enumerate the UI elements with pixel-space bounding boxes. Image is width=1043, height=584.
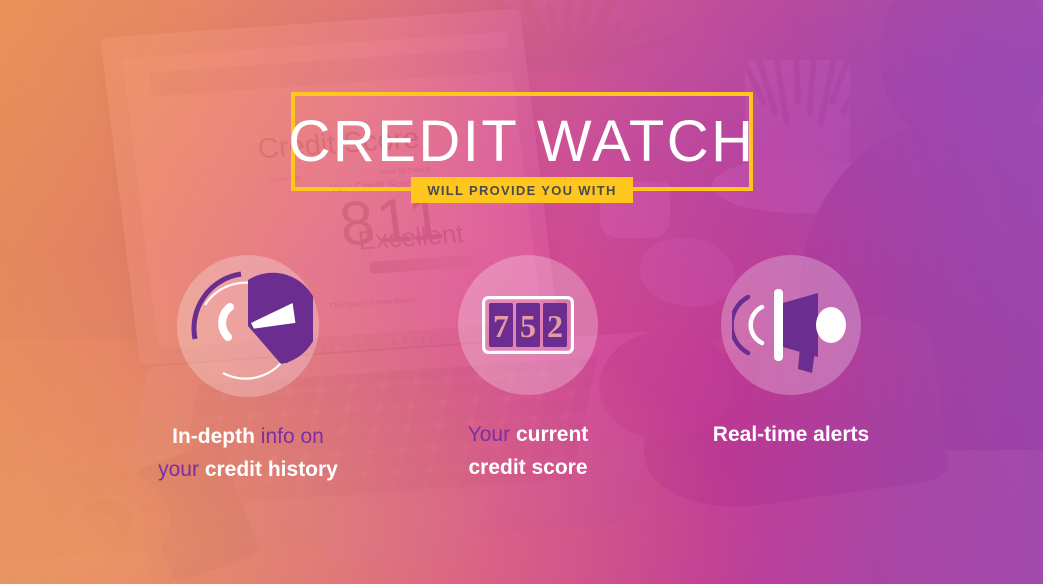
caption-light-1: info on (261, 425, 324, 448)
feature-caption: Real-time alerts (671, 419, 911, 452)
digit-0: 7 (493, 308, 509, 344)
caption-bold-1: current (516, 423, 588, 446)
caption-bold-2: credit score (468, 456, 587, 479)
subtitle-banner: WILL PROVIDE YOU WITH (411, 177, 633, 203)
feature-current-score[interactable]: 7 5 2 Your current credit score (408, 255, 648, 484)
feature-in-depth-history[interactable]: In-depth info on your credit history (128, 255, 368, 486)
feature-caption: In-depth info on your credit history (128, 421, 368, 486)
score-digits-icon: 7 5 2 (458, 255, 598, 395)
caption-bold-2: credit history (205, 458, 338, 481)
caption-light-2: your (158, 458, 199, 481)
subtitle-text: WILL PROVIDE YOU WITH (427, 183, 616, 198)
caption-bold-1: In-depth (172, 425, 255, 448)
pie-chart-icon (177, 255, 319, 397)
digit-2: 2 (547, 308, 563, 344)
feature-real-time-alerts[interactable]: Real-time alerts (671, 255, 911, 452)
feature-icon-circle (721, 255, 861, 395)
digit-1: 5 (520, 308, 536, 344)
slide-canvas: Credit Score Overview More By Default Yo… (0, 0, 1043, 584)
caption-light-1: Your (468, 423, 510, 446)
feature-caption: Your current credit score (408, 419, 648, 484)
feature-icon-circle (177, 255, 319, 397)
caption-bold-1: Real-time alerts (713, 423, 869, 446)
feature-icon-circle: 7 5 2 (458, 255, 598, 395)
megaphone-icon (721, 255, 861, 395)
